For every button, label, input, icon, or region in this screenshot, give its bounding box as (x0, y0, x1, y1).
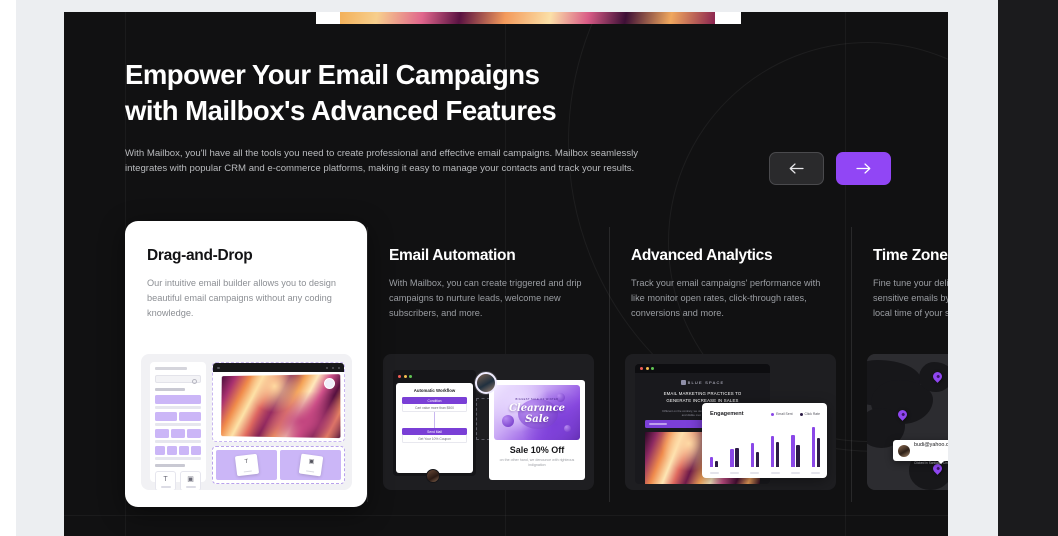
chart-bar (791, 435, 794, 467)
chart-bar (735, 448, 738, 467)
avatar (426, 469, 440, 483)
chart-x-tick (710, 472, 719, 474)
hero-title-line-2: with Mailbox's Advanced Features (125, 95, 556, 126)
card-title: Advanced Analytics (631, 247, 829, 265)
workflow-window: Automatic Workflow Condition Cart value … (393, 370, 476, 476)
layout-caption (155, 440, 201, 443)
chart-bar (715, 461, 718, 467)
layout-block[interactable] (155, 446, 165, 455)
chart-bar (796, 445, 799, 467)
card-divider (367, 227, 368, 502)
previous-section-gradient-sliver (340, 12, 715, 24)
card-title: Time Zone (873, 247, 948, 265)
chart-bar (751, 443, 754, 467)
chart-bar-group (730, 448, 738, 467)
workflow-step-send-mail[interactable]: Send Mail (402, 428, 467, 435)
chart-x-tick (730, 472, 739, 474)
card-description: Track your email campaigns' performance … (631, 276, 829, 321)
chart-bar (776, 442, 779, 467)
logo-mark-icon (681, 380, 686, 385)
toolbar-dot (338, 367, 341, 370)
layout-block[interactable] (171, 429, 185, 438)
email-builder-mockup: T ▣ (141, 354, 352, 490)
card-divider (609, 227, 610, 502)
chart-x-tick (750, 472, 759, 474)
hero-title-line-1: Empower Your Email Campaigns (125, 59, 539, 90)
brand-logo: BLUE SPACE (635, 380, 770, 385)
search-input[interactable] (155, 375, 201, 383)
tool-label (186, 486, 196, 488)
legend-item-email-sent: Email Sent (771, 412, 792, 416)
card-media-analytics: BLUE SPACE EMAIL MARKETING PRACTICES TO … (625, 354, 836, 490)
card-description: With Mailbox, you can create triggered a… (389, 276, 587, 321)
maximize-dot-icon (409, 375, 412, 378)
promo-fine-print: on the other hand, we denounce with righ… (497, 458, 577, 469)
text-icon: T (163, 476, 167, 483)
promo-hero-art: BIGGEST SALE OF WINTER Clearance Sale (494, 385, 580, 440)
promo-title-line-1: Clearance (494, 404, 580, 414)
chart-bar (771, 436, 774, 467)
image-icon: ▣ (187, 476, 194, 483)
avatar (898, 445, 910, 457)
canvas-hero-image (221, 374, 340, 438)
chip-label (243, 470, 251, 472)
card-media-automation: Automatic Workflow Condition Cart value … (383, 354, 594, 490)
feature-card-email-automation[interactable]: Email Automation With Mailbox, you can c… (367, 221, 609, 507)
chart-x-tick (791, 472, 800, 474)
decorative-blob (564, 425, 571, 432)
legend-item-click-rate: Click Rate (800, 412, 820, 416)
workflow-step-condition[interactable]: Condition (402, 397, 467, 404)
chart-bar (756, 452, 759, 467)
drop-slot[interactable]: T (216, 450, 277, 480)
window-traffic-lights (398, 375, 412, 378)
layout-caption (155, 457, 201, 460)
carousel-next-button[interactable] (836, 152, 891, 185)
tooltip-email: budi@yahoo.com (914, 442, 948, 448)
workflow-step-condition-text: Cart value more than $500 (402, 404, 467, 412)
page-left-margin (0, 0, 16, 536)
feature-card-carousel[interactable]: Drag-and-Drop Our intuitive email builde… (125, 221, 948, 507)
feature-card-advanced-analytics[interactable]: Advanced Analytics Track your email camp… (609, 221, 851, 507)
card-title: Drag-and-Drop (147, 247, 345, 265)
layout-block[interactable] (187, 429, 201, 438)
carousel-nav (769, 152, 891, 185)
automation-mockup: Automatic Workflow Condition Cart value … (383, 354, 594, 490)
analytics-mockup: BLUE SPACE EMAIL MARKETING PRACTICES TO … (625, 354, 836, 490)
chart-x-tick (811, 472, 820, 474)
grid-line-horizontal (64, 515, 948, 516)
workflow-step-send-mail-text: Get Your 10% Coupon (402, 435, 467, 443)
card-media-time-zone-map: budi@yahoo.com Clicked in Santiago, Chil… (867, 354, 948, 490)
workflow-card: Automatic Workflow Condition Cart value … (396, 383, 473, 473)
layout-block[interactable] (179, 412, 201, 421)
tool-label (161, 486, 171, 488)
promo-kicker: BIGGEST SALE OF WINTER (494, 398, 580, 401)
sliver-edge-left (316, 12, 340, 24)
hero-subtitle: With Mailbox, you'll have all the tools … (125, 146, 650, 178)
workflow-connector (434, 412, 435, 428)
section-label-layout (155, 388, 185, 391)
hero-copy: Empower Your Email Campaigns with Mailbo… (125, 57, 825, 177)
chart-title: Engagement (710, 411, 744, 417)
layout-block[interactable] (155, 395, 201, 404)
section-label-blocks (155, 464, 185, 467)
maximize-dot-icon (651, 367, 654, 370)
promo-email-preview: BIGGEST SALE OF WINTER Clearance Sale Sa… (489, 380, 585, 480)
chart-bar (812, 427, 815, 467)
legend-label: Click Rate (805, 412, 820, 416)
map-tooltip: budi@yahoo.com Clicked in Santiago, Chil… (893, 440, 948, 461)
feature-card-time-zone[interactable]: Time Zone Fine tune your delivery by sen… (851, 221, 948, 507)
builder-canvas[interactable] (212, 362, 345, 442)
workflow-connector-dashed (476, 398, 490, 440)
promo-headline: Sale 10% Off (489, 445, 585, 455)
chip-label (306, 470, 314, 473)
chart-bar-group (812, 427, 820, 467)
layout-block[interactable] (167, 446, 177, 455)
dragged-text-chip[interactable]: T (234, 454, 258, 477)
layout-block[interactable] (191, 446, 201, 455)
arrow-left-icon (789, 163, 804, 174)
toolbar-dot (217, 367, 220, 370)
chart-bar-group (771, 436, 779, 467)
tool-image-button[interactable]: ▣ (180, 471, 201, 490)
minimize-dot-icon (404, 375, 407, 378)
card-media-email-builder: T ▣ (141, 354, 352, 490)
card-title: Email Automation (389, 247, 587, 265)
chart-bar (730, 449, 733, 467)
chart-x-tick (771, 472, 780, 474)
layout-block[interactable] (155, 429, 169, 438)
dragged-image-chip[interactable]: ▣ (298, 454, 323, 477)
workflow-title: Automatic Workflow (396, 388, 473, 393)
promo-title-line-2: Sale (494, 415, 580, 425)
window-traffic-lights (640, 367, 654, 370)
legend-swatch (771, 413, 774, 416)
chart-legend: Email Sent Click Rate (771, 412, 820, 416)
chart-bar-group (791, 435, 799, 467)
layout-block[interactable] (179, 446, 189, 455)
features-hero-section: Empower Your Email Campaigns with Mailbo… (64, 12, 948, 536)
layout-caption (155, 406, 201, 409)
minimize-dot-icon (646, 367, 649, 370)
text-icon: T (244, 459, 248, 465)
screenshot-viewport: Empower Your Email Campaigns with Mailbo… (0, 0, 1058, 536)
arrow-right-icon (856, 163, 871, 174)
page-right-dark-strip (998, 0, 1058, 536)
tool-text-button[interactable]: T (155, 471, 176, 490)
chart-bar-group (710, 457, 718, 468)
avatar (475, 372, 497, 394)
chart-bar-group (751, 443, 759, 467)
sliver-edge-right (715, 12, 741, 24)
layout-block[interactable] (155, 412, 177, 421)
world-map: budi@yahoo.com Clicked in Santiago, Chil… (867, 354, 948, 490)
card-divider (851, 227, 852, 502)
panel-heading-bar (155, 367, 187, 370)
toolbar-dot (332, 367, 335, 370)
layout-caption (155, 423, 201, 426)
window-toolbar (635, 364, 770, 373)
feature-card-drag-and-drop[interactable]: Drag-and-Drop Our intuitive email builde… (125, 221, 367, 507)
tooltip-tail (937, 460, 945, 464)
engagement-chart-panel: Engagement Email Sent Click Rate (702, 403, 827, 478)
legend-swatch (800, 413, 803, 416)
close-dot-icon (398, 375, 401, 378)
chart-bar (817, 438, 820, 467)
card-description: Fine tune your delivery by sending time … (873, 276, 948, 321)
page-title: Empower Your Email Campaigns with Mailbo… (125, 57, 825, 129)
builder-drop-zone[interactable]: T ▣ (212, 446, 345, 484)
chart-bar (710, 457, 713, 468)
chart-plot-area (710, 425, 820, 467)
image-icon: ▣ (308, 459, 314, 466)
canvas-image-badge (324, 378, 335, 389)
drop-slot[interactable]: ▣ (280, 450, 341, 480)
carousel-prev-button[interactable] (769, 152, 824, 185)
toolbar-dot (326, 367, 329, 370)
legend-label: Email Sent (776, 412, 792, 416)
viewport-right-clip (948, 0, 998, 536)
builder-side-panel: T ▣ (150, 362, 206, 482)
chart-x-axis (710, 472, 820, 474)
close-dot-icon (640, 367, 643, 370)
card-description: Our intuitive email builder allows you t… (147, 276, 345, 321)
brand-name: BLUE SPACE (688, 380, 725, 385)
canvas-toolbar (213, 363, 344, 372)
